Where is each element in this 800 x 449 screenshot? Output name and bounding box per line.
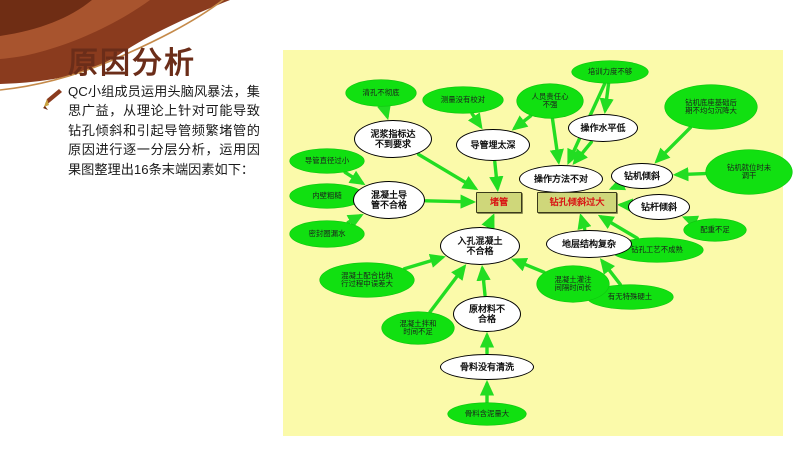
cause-node: 配重不足: [684, 219, 746, 241]
slide-canvas: 原因分析 QC小组成员运用头脑风暴法，集思广益，从理论上针对可能导致钻孔倾斜和引…: [0, 0, 800, 449]
intermediate-node: 骨料没有清洗: [440, 354, 534, 380]
cause-node: 钻机底座基础后 期不均匀沉降大: [665, 85, 757, 129]
cause-node: 混凝土配合比执 行过程中误差大: [320, 263, 414, 297]
body-paragraph: QC小组成员运用头脑风暴法，集思广益，从理论上针对可能导致钻孔倾斜和引起导管频繁…: [68, 82, 260, 179]
intermediate-node: 导管埋太深: [456, 129, 530, 161]
intermediate-node: 操作方法不对: [519, 165, 603, 193]
intermediate-node: 原材料不 合格: [453, 296, 521, 332]
cause-node: 密封圈漏水: [290, 221, 364, 247]
page-title: 原因分析: [68, 38, 196, 82]
cause-node: 培训力度不够: [572, 61, 648, 83]
intermediate-node: 混凝土导 管不合格: [353, 181, 425, 219]
intermediate-node: 入孔混凝土 不合格: [440, 227, 520, 265]
intermediate-node: 钻机倾斜: [611, 163, 673, 189]
cause-effect-diagram: 清孔不彻底测量没有校对人员责任心 不强培训力度不够钻机底座基础后 期不均匀沉降大…: [283, 50, 783, 436]
effect-node: 堵管: [476, 192, 522, 213]
cause-node: 钻机就位时未 调干: [706, 150, 792, 194]
intermediate-node: 地层结构复杂: [546, 230, 632, 258]
cause-node: 导管直径过小: [290, 149, 364, 173]
intermediate-node: 泥浆指标达 不到要求: [354, 120, 432, 158]
cause-node: 人员责任心 不强: [517, 84, 583, 118]
effect-node: 钻孔倾斜过大: [537, 192, 617, 213]
cause-node: 清孔不彻底: [346, 80, 416, 106]
intermediate-node: 钻杆倾斜: [628, 194, 690, 220]
cause-node: 混凝土灌注 间隔时间长: [537, 266, 609, 302]
intermediate-node: 操作水平低: [568, 114, 638, 142]
pencil-icon: [40, 86, 66, 112]
cause-node: 混凝土拌和 时间不足: [382, 312, 454, 344]
cause-node: 骨料含泥量大: [448, 403, 526, 425]
cause-node: 测量没有校对: [423, 87, 503, 113]
